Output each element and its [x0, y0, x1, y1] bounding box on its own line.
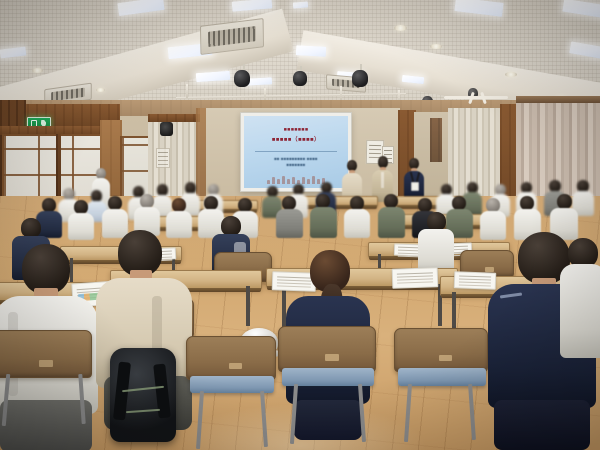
recessed-downlight	[32, 68, 43, 73]
table-leg	[246, 286, 250, 326]
chair-back-empty	[186, 336, 276, 380]
attendee	[418, 212, 454, 272]
track-spotlight-icon	[293, 71, 307, 86]
photo-scene: ■■■■■■■ ■■■■■（■■■■） ■■ ■■■■■■■■■ ■■■■ ■■…	[0, 0, 600, 450]
backpack-zipper	[126, 409, 160, 413]
handout-paper	[392, 267, 439, 289]
wall-cabinet	[430, 118, 442, 162]
slide-divider	[255, 151, 336, 152]
projection-screen-surface: ■■■■■■■ ■■■■■（■■■■） ■■ ■■■■■■■■■ ■■■■ ■■…	[244, 116, 348, 188]
wall-notice	[156, 148, 170, 168]
lighting-track-riser	[186, 84, 188, 98]
wall-speaker	[160, 122, 173, 136]
attendee-lower-body	[294, 400, 362, 440]
lighting-track-riser	[264, 88, 266, 100]
track-spotlight-icon	[234, 70, 250, 87]
attendee	[276, 196, 303, 238]
attendee	[344, 196, 370, 238]
panel-light	[296, 45, 326, 57]
slide-title-line-2: ■■■■■（■■■■）	[272, 136, 321, 145]
id-card	[411, 182, 419, 191]
recessed-downlight	[430, 44, 442, 49]
lighting-track-riser	[340, 86, 342, 100]
attendee	[68, 200, 94, 240]
chair-back-foreground-center	[278, 326, 376, 372]
attendee-trousers	[0, 400, 92, 450]
uniform-placket	[381, 172, 384, 188]
attendee	[378, 194, 405, 238]
chair-back-foreground-left	[0, 330, 92, 378]
projected-slide: ■■■■■■■ ■■■■■（■■■■） ■■ ■■■■■■■■■ ■■■■ ■■…	[244, 116, 348, 188]
attendee-torso	[560, 264, 600, 358]
recessed-downlight	[505, 72, 517, 77]
blinds-headrail-left	[148, 114, 202, 122]
panel-light	[293, 1, 308, 8]
slide-body-line-2: ■■■■■■■	[286, 162, 305, 168]
attendee-trousers	[494, 400, 590, 450]
slide-title-line-1: ■■■■■■■	[284, 127, 309, 135]
recessed-downlight	[96, 88, 105, 92]
curtain-rod	[444, 96, 508, 99]
attendee	[310, 194, 337, 238]
recessed-downlight	[394, 25, 407, 31]
chair-back-empty	[394, 328, 488, 372]
attendee-right-edge	[560, 238, 600, 358]
track-spotlight-icon	[352, 70, 368, 87]
attendee-head	[22, 244, 70, 294]
projection-screen: ■■■■■■■ ■■■■■（■■■■） ■■ ■■■■■■■■■ ■■■■ ■■…	[240, 112, 352, 192]
curtain-valance	[516, 96, 600, 103]
backpack	[110, 348, 176, 442]
